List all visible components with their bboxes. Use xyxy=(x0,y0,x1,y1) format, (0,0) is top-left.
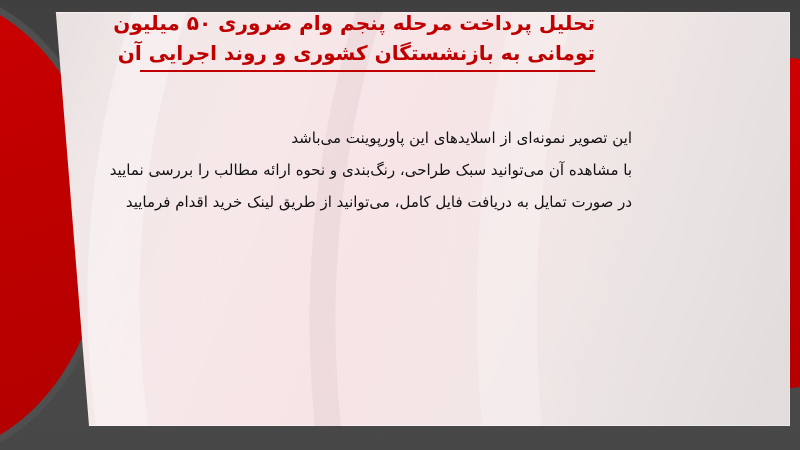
slide-title: تحلیل پرداخت مرحله پنجم وام ضروری ۵۰ میل… xyxy=(135,9,595,72)
slide-title-line-1: تحلیل پرداخت مرحله پنجم وام ضروری ۵۰ میل… xyxy=(135,9,595,39)
slide-body-line-2: با مشاهده آن می‌توانید سبک طراحی، رنگ‌بن… xyxy=(112,155,632,187)
slide-title-underline xyxy=(140,70,595,72)
slide-body-line-3: در صورت تمایل به دریافت فایل کامل، می‌تو… xyxy=(112,187,632,219)
panel-gradient-wash xyxy=(18,12,790,426)
slide-stage: تحلیل پرداخت مرحله پنجم وام ضروری ۵۰ میل… xyxy=(0,0,800,450)
slide-title-line-2: تومانی به بازنشستگان کشوری و روند اجرایی… xyxy=(135,39,595,69)
content-panel xyxy=(18,12,790,426)
arc-band-5 xyxy=(440,12,790,426)
arc-band-1 xyxy=(18,12,790,426)
panel-arc-texture xyxy=(18,12,790,426)
arc-band-6 xyxy=(18,12,744,426)
arc-band-4 xyxy=(264,12,790,426)
slide-body: این تصویر نمونه‌ای از اسلایدهای این پاور… xyxy=(112,123,632,218)
arc-band-3 xyxy=(29,12,790,426)
arc-band-2 xyxy=(18,12,790,426)
slide-body-line-1: این تصویر نمونه‌ای از اسلایدهای این پاور… xyxy=(112,123,632,155)
